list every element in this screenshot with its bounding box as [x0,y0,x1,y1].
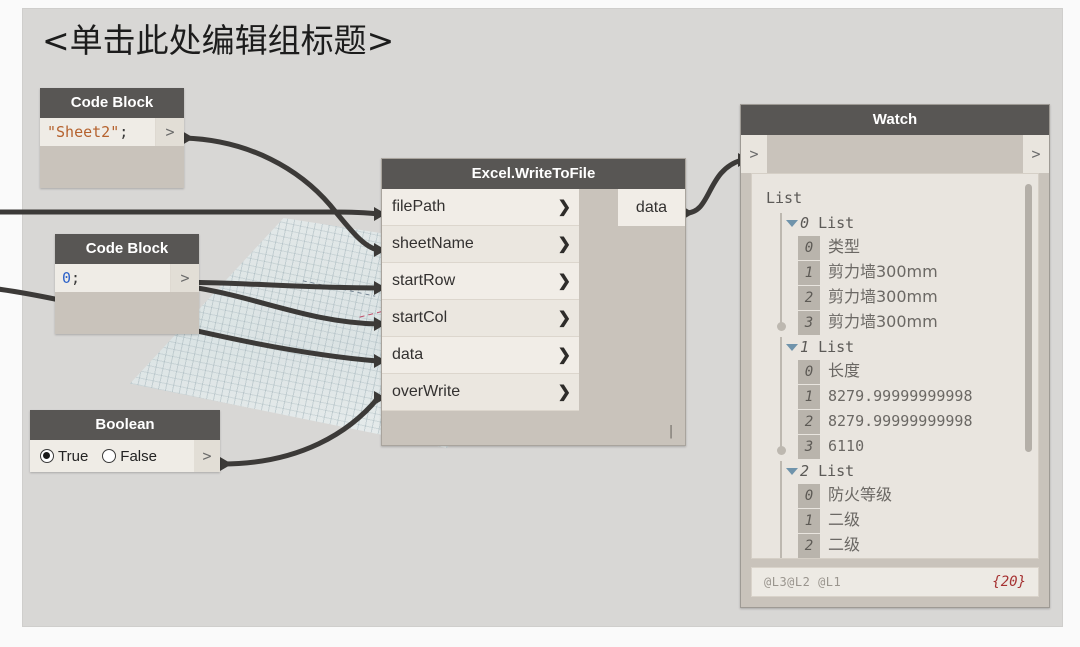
tree-branch-header[interactable]: 1 List [786,335,1038,359]
code-literal-number: 0 [62,269,71,287]
item-value: 8279.99999999998 [828,412,973,430]
input-port-label: startRow [392,272,558,290]
tree-branch[interactable]: 0 List 0类型 1剪力墙300mm 2剪力墙300mm [776,211,1038,335]
node-footer: | [382,411,685,445]
item-index-badge: 3 [798,311,820,335]
node-title: Watch [741,105,1049,135]
code-semicolon: ; [119,123,128,141]
output-port-chevron[interactable]: > [194,440,220,472]
tree-branch[interactable]: 1 List 0长度 18279.99999999998 28279.99999… [776,335,1038,459]
output-port-data[interactable]: data [618,189,685,226]
radio-option-true[interactable]: True [40,448,88,465]
tree-item: 36110 [798,434,1038,459]
input-port-overwrite[interactable]: overWrite ❯ [382,374,579,411]
tree-root: List 0 List 0类型 1剪力墙300mm [766,186,1038,559]
tree-item: 1二级 [798,508,1038,533]
tree-item: 2剪力墙300mm [798,285,1038,310]
item-value: 长度 [828,361,860,380]
tree-branch-index: 0 [800,214,809,232]
radio-selected-icon[interactable] [40,449,54,463]
item-value: 二级 [828,510,860,529]
item-value: 剪力墙300mm [828,312,938,331]
item-count-badge: {20} [992,574,1026,590]
item-index-badge: 2 [798,534,820,558]
output-port-chevron[interactable]: > [1023,135,1049,173]
tree-item: 1剪力墙300mm [798,260,1038,285]
input-port-startcol[interactable]: startCol ❯ [382,300,579,337]
tree-branch-index: 1 [800,338,809,356]
chevron-right-icon[interactable]: ❯ [558,234,571,254]
radio-label: True [58,448,88,465]
tree-branch-label: List [818,338,854,356]
radio-option-false[interactable]: False [102,448,157,465]
code-block-editor[interactable]: 0; [55,264,171,292]
node-title: Excel.WriteToFile [382,159,685,189]
input-port-data[interactable]: data ❯ [382,337,579,374]
tree-branch-index: 2 [800,462,809,480]
tree-item: 3二级 [798,558,1038,559]
item-index-badge: 0 [798,360,820,384]
input-port-chevron[interactable]: > [741,135,767,173]
watch-result-tree[interactable]: List 0 List 0类型 1剪力墙300mm [751,173,1039,559]
lacing-indicator[interactable]: @L3@L2 @L1 [764,575,841,589]
item-value: 二级 [828,535,860,554]
item-value: 剪力墙300mm [828,287,938,306]
item-index-badge: 3 [798,435,820,459]
chevron-right-icon[interactable]: ❯ [558,271,571,291]
node-title: Code Block [40,88,184,118]
node-excel-write-to-file[interactable]: Excel.WriteToFile filePath ❯ sheetName ❯… [381,158,686,446]
tree-item: 0长度 [798,359,1038,384]
output-port-label: data [636,199,667,217]
node-title: Code Block [55,234,199,264]
radio-label: False [120,448,157,465]
node-code-block-zero[interactable]: Code Block 0; > [55,234,199,334]
item-value: 剪力墙300mm [828,262,938,281]
item-index-badge: 2 [798,410,820,434]
chevron-right-icon[interactable]: ❯ [558,345,571,365]
chevron-right-icon[interactable]: ❯ [558,382,571,402]
output-port-chevron[interactable]: > [171,264,199,292]
collapse-triangle-icon[interactable] [786,220,798,227]
collapse-triangle-icon[interactable] [786,344,798,351]
node-watch[interactable]: Watch > > List 0 List 0类型 [740,104,1050,608]
node-title: Boolean [30,410,220,440]
item-value: 类型 [828,237,860,256]
input-port-label: data [392,346,558,364]
tree-branch-label: List [818,462,854,480]
item-index-badge: 1 [798,509,820,533]
item-index-badge: 0 [798,484,820,508]
node-code-block-sheetname[interactable]: Code Block "Sheet2"; > [40,88,184,188]
input-port-label: filePath [392,198,558,216]
input-port-filepath[interactable]: filePath ❯ [382,189,579,226]
item-value: 6110 [828,437,864,455]
item-value: 防火等级 [828,485,892,504]
group-title[interactable]: <单击此处编辑组标题> [42,14,394,62]
output-port-chevron[interactable]: > [156,118,184,146]
item-value: 8279.99999999998 [828,387,973,405]
node-body-padding [40,146,184,188]
node-body-padding [55,292,199,334]
code-block-editor[interactable]: "Sheet2"; [40,118,156,146]
tree-root-label: List [766,189,802,207]
item-index-badge: 0 [798,236,820,260]
tree-item: 3剪力墙300mm [798,310,1038,335]
collapse-triangle-icon[interactable] [786,468,798,475]
item-index-badge: 1 [798,385,820,409]
tree-item: 18279.99999999998 [798,384,1038,409]
resize-handle-icon[interactable]: | [667,424,675,439]
tree-item: 0类型 [798,235,1038,260]
tree-branch[interactable]: 2 List 0防火等级 1二级 2二级 3二级 [776,459,1038,559]
chevron-right-icon[interactable]: ❯ [558,197,571,217]
code-literal-string: "Sheet2" [47,123,119,141]
node-boolean[interactable]: Boolean True False > [30,410,220,472]
code-semicolon: ; [71,269,80,287]
input-port-label: sheetName [392,235,558,253]
item-index-badge: 1 [798,261,820,285]
radio-unselected-icon[interactable] [102,449,116,463]
dynamo-graph-canvas[interactable]: <单击此处编辑组标题> [0,0,1080,647]
tree-item: 28279.99999999998 [798,409,1038,434]
input-port-sheetname[interactable]: sheetName ❯ [382,226,579,263]
tree-item: 0防火等级 [798,483,1038,508]
item-index-badge: 2 [798,286,820,310]
watch-footer: @L3@L2 @L1 {20} [751,567,1039,597]
tree-branch-label: List [818,214,854,232]
tree-branch-header[interactable]: 0 List [786,211,1038,235]
input-port-label: startCol [392,309,558,327]
input-port-label: overWrite [392,383,558,401]
chevron-right-icon[interactable]: ❯ [558,308,571,328]
tree-item: 2二级 [798,533,1038,558]
input-port-startrow[interactable]: startRow ❯ [382,263,579,300]
tree-branch-header[interactable]: 2 List [786,459,1038,483]
